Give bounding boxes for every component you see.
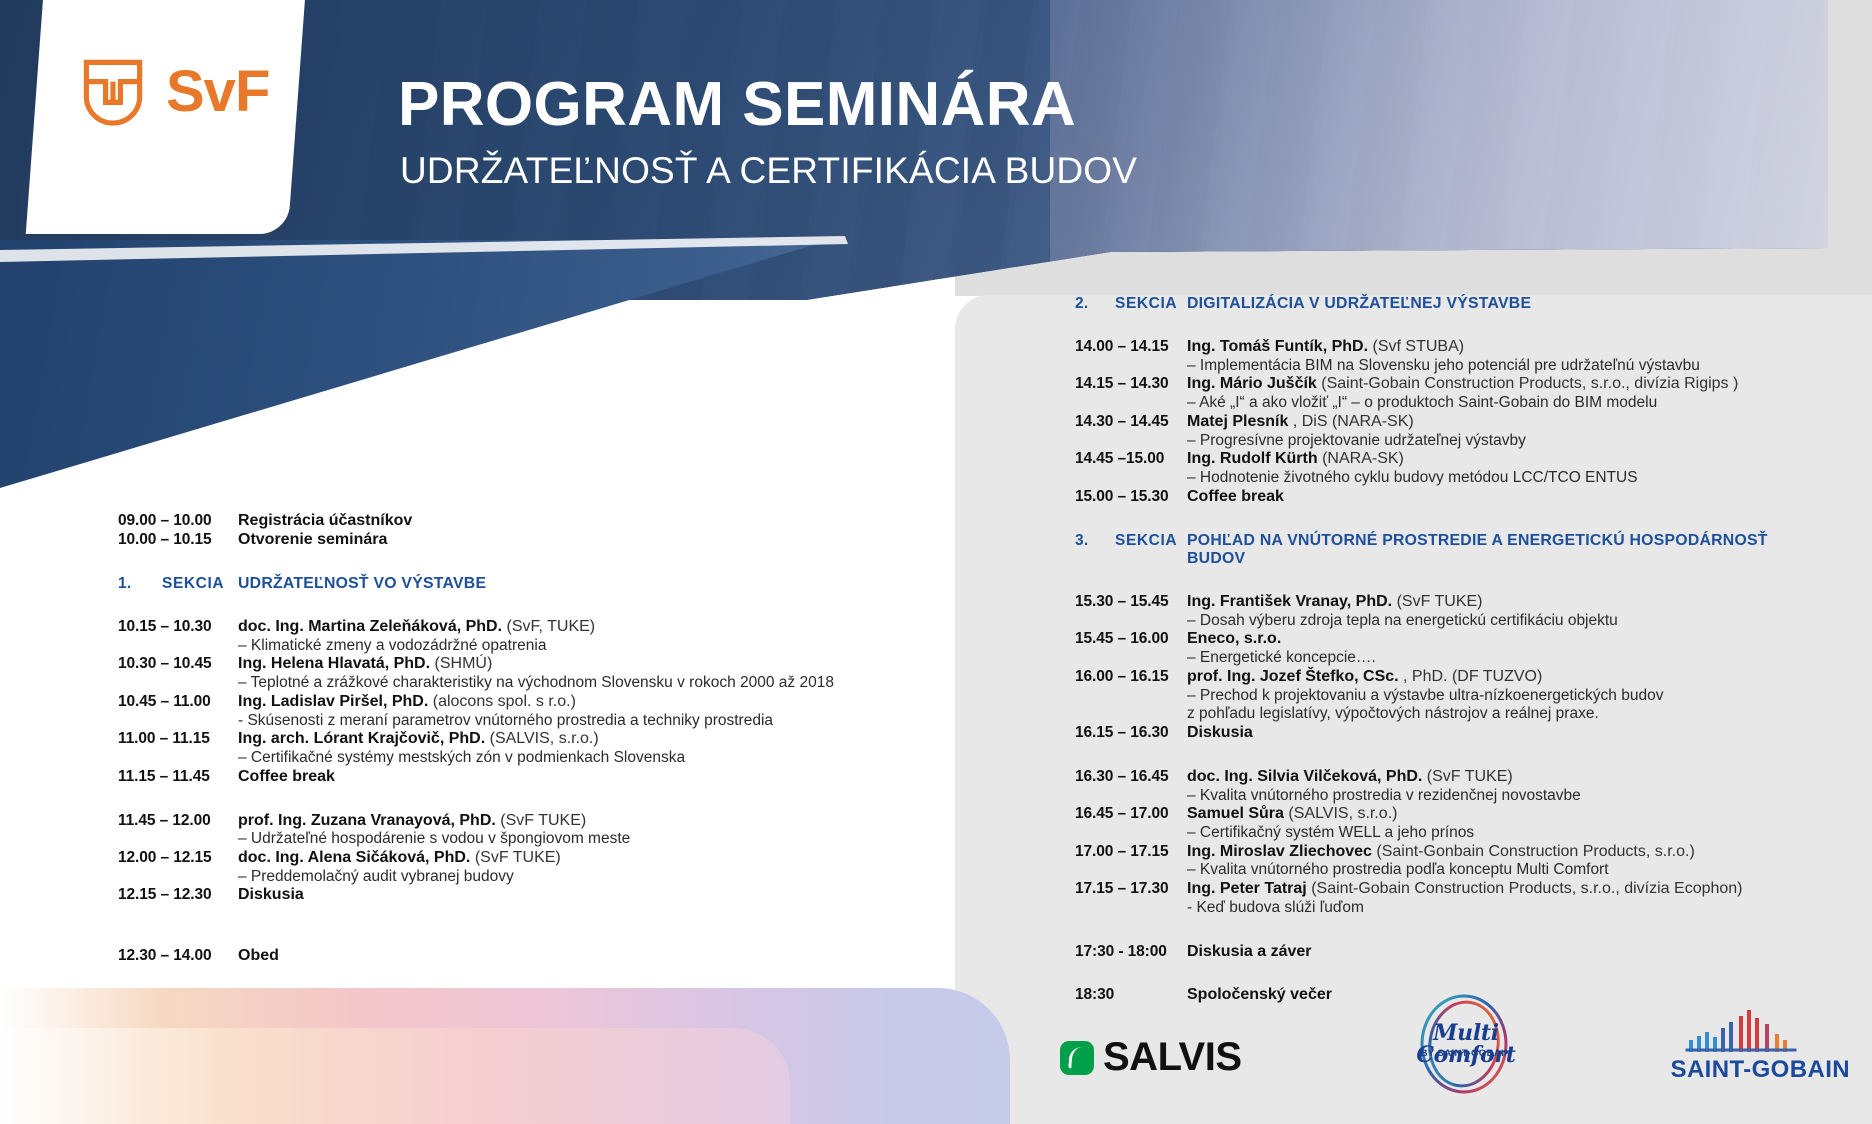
row-time: 16.15 – 16.30 <box>1075 724 1187 742</box>
speaker-affiliation: (SHMÚ) <box>435 655 493 672</box>
row-time: 17:30 - 18:00 <box>1075 943 1187 961</box>
row-speaker: Samuel Sůra (SALVIS, s.r.o.) <box>1187 805 1815 824</box>
row-topic: – Kvalita vnútorného prostredia v rezide… <box>1187 787 1815 806</box>
row-speaker: Ing. Helena Hlavatá, PhD. (SHMÚ) <box>238 655 878 674</box>
speaker-name: Eneco, s.r.o. <box>1187 630 1281 647</box>
row-topic: - Keď budova slúži ľuďom <box>1187 899 1815 918</box>
speaker-name: prof. Ing. Jozef Štefko, CSc. <box>1187 668 1399 685</box>
row-topic: – Energetické koncepcie…. <box>1187 649 1815 668</box>
row-label: Diskusia <box>238 886 878 905</box>
speaker-affiliation: (Svf STUBA) <box>1373 338 1465 355</box>
row-time: 15.00 – 15.30 <box>1075 488 1187 506</box>
sponsor-multi-comfort: Multi Comfort BY SAINT-GOBAIN <box>1376 994 1552 1094</box>
speaker-affiliation: (SvF TUKE) <box>475 849 561 866</box>
speaker-affiliation: , PhD. (DF TUZVO) <box>1403 668 1542 685</box>
schedule-row: 15.45 – 16.00 Eneco, s.r.o. <box>1075 630 1815 649</box>
speaker-affiliation: (SvF TUKE) <box>1427 768 1513 785</box>
schedule-row-discussion: 16.15 – 16.30 Diskusia <box>1075 724 1815 743</box>
schedule-row: 14.30 – 14.45 Matej Plesník , DiS (NARA-… <box>1075 413 1815 432</box>
row-topic: – Udržateľné hospodárenie s vodou v špon… <box>238 830 878 849</box>
schedule-row: 16.30 – 16.45 doc. Ing. Silvia Vilčeková… <box>1075 768 1815 787</box>
speaker-affiliation: (SvF TUKE) <box>500 812 586 829</box>
speaker-name: doc. Ing. Alena Sičáková, PhD. <box>238 849 470 866</box>
row-topic-continued: z pohľadu legislatívy, výpočtových nástr… <box>1187 705 1815 724</box>
row-time: 10.45 – 11.00 <box>118 693 238 711</box>
row-time: 14.15 – 14.30 <box>1075 375 1187 393</box>
row-label: Obed <box>238 947 878 966</box>
schedule-row: 15.30 – 15.45 Ing. František Vranay, PhD… <box>1075 593 1815 612</box>
section-header-1: 1. SEKCIA UDRŽATEĽNOSŤ VO VÝSTAVBE <box>118 575 878 593</box>
row-speaker: Matej Plesník , DiS (NARA-SK) <box>1187 413 1815 432</box>
schedule-row: 10.15 – 10.30 doc. Ing. Martina Zeleňáko… <box>118 618 878 637</box>
row-time: 11.15 – 11.45 <box>118 768 238 786</box>
speaker-name: Ing. František Vranay, PhD. <box>1187 593 1392 610</box>
speaker-affiliation: (SvF, TUKE) <box>507 618 596 635</box>
sponsor-saint-gobain: SAINT-GOBAIN <box>1671 1008 1850 1084</box>
speaker-name: prof. Ing. Zuzana Vranayová, PhD. <box>238 812 496 829</box>
schedule-row: 12.00 – 12.15 doc. Ing. Alena Sičáková, … <box>118 849 878 868</box>
multi-comfort-wordmark: Multi Comfort <box>1398 1022 1534 1066</box>
row-time: 14.30 – 14.45 <box>1075 413 1187 431</box>
row-time: 11.00 – 11.15 <box>118 730 238 748</box>
program-column-right: 2. SEKCIA DIGITALIZÁCIA V UDRŽATEĽNEJ VÝ… <box>1075 295 1815 1005</box>
saint-gobain-skyline-icon <box>1685 1008 1835 1054</box>
speaker-name: Ing. Helena Hlavatá, PhD. <box>238 655 430 672</box>
row-speaker: Ing. Mário Juščík (Saint-Gobain Construc… <box>1187 375 1815 394</box>
section-title: UDRŽATEĽNOSŤ VO VÝSTAVBE <box>238 575 486 593</box>
section-keyword: SEKCIA <box>1115 532 1187 550</box>
speaker-name: Ing. arch. Lórant Krajčovič, PhD. <box>238 730 485 747</box>
row-speaker: Ing. arch. Lórant Krajčovič, PhD. (SALVI… <box>238 730 878 749</box>
section-number: 2. <box>1075 295 1115 313</box>
row-time: 17.15 – 17.30 <box>1075 880 1187 898</box>
sponsor-logos: SALVIS Multi Comfort BY SAINT-G <box>1060 998 1850 1094</box>
speaker-name: Ing. Tomáš Funtík, PhD. <box>1187 338 1368 355</box>
row-speaker: Ing. Miroslav Zliechovec (Saint-Gonbain … <box>1187 843 1815 862</box>
schedule-row: 16.45 – 17.00 Samuel Sůra (SALVIS, s.r.o… <box>1075 805 1815 824</box>
multi-comfort-byline: BY SAINT-GOBAIN <box>1398 1048 1534 1059</box>
schedule-row: 10.45 – 11.00 Ing. Ladislav Piršel, PhD.… <box>118 693 878 712</box>
row-time: 14.00 – 14.15 <box>1075 338 1187 356</box>
schedule-row: 14.45 –15.00 Ing. Rudolf Kürth (NARA-SK) <box>1075 450 1815 469</box>
section-title: POHĽAD NA VNÚTORNÉ PROSTREDIE A ENERGETI… <box>1187 532 1815 568</box>
row-topic: – Progresívne projektovanie udržateľnej … <box>1187 432 1815 451</box>
schedule-row: 11.00 – 11.15 Ing. arch. Lórant Krajčovi… <box>118 730 878 749</box>
row-topic: – Dosah výberu zdroja tepla na energetic… <box>1187 612 1815 631</box>
row-topic: – Certifikačné systémy mestských zón v p… <box>238 749 878 768</box>
speaker-affiliation: (SALVIS, s.r.o.) <box>1288 805 1397 822</box>
section-keyword: SEKCIA <box>1115 295 1187 313</box>
svf-logo: SvF <box>76 54 286 130</box>
row-speaker: prof. Ing. Jozef Štefko, CSc. , PhD. (DF… <box>1187 668 1815 687</box>
speaker-affiliation: , DiS (NARA-SK) <box>1293 413 1414 430</box>
schedule-row: 14.00 – 14.15 Ing. Tomáš Funtík, PhD. (S… <box>1075 338 1815 357</box>
row-speaker: doc. Ing. Silvia Vilčeková, PhD. (SvF TU… <box>1187 768 1815 787</box>
schedule-row-coffee: 15.00 – 15.30 Coffee break <box>1075 488 1815 507</box>
schedule-row: 09.00 – 10.00 Registrácia účastníkov <box>118 512 878 531</box>
row-topic: – Hodnotenie životného cyklu budovy metó… <box>1187 469 1815 488</box>
speaker-name: Ing. Rudolf Kürth <box>1187 450 1318 467</box>
row-label: Otvorenie seminára <box>238 531 878 550</box>
salvis-wordmark: SALVIS <box>1103 1035 1242 1080</box>
speaker-name: doc. Ing. Silvia Vilčeková, PhD. <box>1187 768 1422 785</box>
row-time: 15.30 – 15.45 <box>1075 593 1187 611</box>
row-topic: – Teplotné a zrážkové charakteristiky na… <box>238 674 878 693</box>
row-speaker: prof. Ing. Zuzana Vranayová, PhD. (SvF T… <box>238 812 878 831</box>
page-subtitle: UDRŽATEĽNOSŤ A CERTIFIKÁCIA BUDOV <box>400 150 1137 192</box>
schedule-row: 17.15 – 17.30 Ing. Peter Tatraj (Saint-G… <box>1075 880 1815 899</box>
row-label: Diskusia <box>1187 724 1815 743</box>
row-topic: – Preddemolačný audit vybranej budovy <box>238 868 878 887</box>
row-topic: – Aké „I“ a ako vložiť „I“ – o produktoc… <box>1187 394 1815 413</box>
schedule-row: 14.15 – 14.30 Ing. Mário Juščík (Saint-G… <box>1075 375 1815 394</box>
row-speaker: Eneco, s.r.o. <box>1187 630 1815 649</box>
speaker-affiliation: (NARA-SK) <box>1322 450 1404 467</box>
svf-shield-icon <box>76 55 150 129</box>
row-time: 10.15 – 10.30 <box>118 618 238 636</box>
schedule-row: 10.30 – 10.45 Ing. Helena Hlavatá, PhD. … <box>118 655 878 674</box>
schedule-row-coffee: 11.15 – 11.45 Coffee break <box>118 768 878 787</box>
saint-gobain-wordmark: SAINT-GOBAIN <box>1671 1056 1850 1084</box>
schedule-row-closing: 17:30 - 18:00 Diskusia a záver <box>1075 943 1815 962</box>
row-time: 12.30 – 14.00 <box>118 947 238 965</box>
bottom-gradient-band-inner <box>0 1028 790 1124</box>
schedule-row: 10.00 – 10.15 Otvorenie seminára <box>118 531 878 550</box>
speaker-name: Ing. Peter Tatraj <box>1187 880 1307 897</box>
row-time: 15.45 – 16.00 <box>1075 630 1187 648</box>
section-number: 3. <box>1075 532 1115 550</box>
row-speaker: doc. Ing. Martina Zeleňáková, PhD. (SvF,… <box>238 618 878 637</box>
schedule-row-discussion: 12.15 – 12.30 Diskusia <box>118 886 878 905</box>
row-time: 16.00 – 16.15 <box>1075 668 1187 686</box>
row-speaker: Ing. Peter Tatraj (Saint-Gobain Construc… <box>1187 880 1815 899</box>
speaker-name: Ing. Miroslav Zliechovec <box>1187 843 1372 860</box>
speaker-name: doc. Ing. Martina Zeleňáková, PhD. <box>238 618 502 635</box>
row-time: 11.45 – 12.00 <box>118 812 238 830</box>
row-time: 17.00 – 17.15 <box>1075 843 1187 861</box>
row-time: 14.45 –15.00 <box>1075 450 1187 468</box>
speaker-affiliation: (SvF TUKE) <box>1397 593 1483 610</box>
row-label: Registrácia účastníkov <box>238 512 878 531</box>
section-keyword: SEKCIA <box>162 575 238 593</box>
schedule-row: 11.45 – 12.00 prof. Ing. Zuzana Vranayov… <box>118 812 878 831</box>
salvis-leaf-icon <box>1060 1041 1094 1075</box>
row-label: Coffee break <box>238 768 878 787</box>
row-topic: – Klimatické zmeny a vodozádržné opatren… <box>238 637 878 656</box>
section-title: DIGITALIZÁCIA V UDRŽATEĽNEJ VÝSTAVBE <box>1187 295 1531 313</box>
row-label: Coffee break <box>1187 488 1815 507</box>
row-speaker: doc. Ing. Alena Sičáková, PhD. (SvF TUKE… <box>238 849 878 868</box>
section-number: 1. <box>118 575 162 593</box>
sponsor-salvis: SALVIS <box>1060 1035 1242 1080</box>
row-label: Diskusia a záver <box>1187 943 1815 962</box>
row-topic: - Skúsenosti z meraní parametrov vnútorn… <box>238 712 878 731</box>
page-title: PROGRAM SEMINÁRA <box>398 72 1076 137</box>
row-time: 10.00 – 10.15 <box>118 531 238 549</box>
program-column-left: 09.00 – 10.00 Registrácia účastníkov 10.… <box>118 512 878 966</box>
speaker-affiliation: (Saint-Gobain Construction Products, s.r… <box>1311 880 1742 897</box>
section-header-2: 2. SEKCIA DIGITALIZÁCIA V UDRŽATEĽNEJ VÝ… <box>1075 295 1815 313</box>
row-topic: – Kvalita vnútorného prostredia podľa ko… <box>1187 861 1815 880</box>
row-topic: – Certifikačný systém WELL a jeho prínos <box>1187 824 1815 843</box>
speaker-name: Ing. Mário Juščík <box>1187 375 1317 392</box>
speaker-name: Samuel Sůra <box>1187 805 1284 822</box>
speaker-affiliation: (Saint-Gonbain Construction Products, s.… <box>1376 843 1694 860</box>
speaker-affiliation: (alocons spol. s r.o.) <box>433 693 576 710</box>
row-speaker: Ing. Ladislav Piršel, PhD. (alocons spol… <box>238 693 878 712</box>
schedule-row-lunch: 12.30 – 14.00 Obed <box>118 947 878 966</box>
schedule-row: 16.00 – 16.15 prof. Ing. Jozef Štefko, C… <box>1075 668 1815 687</box>
svf-logo-text: SvF <box>166 63 269 121</box>
row-time: 12.15 – 12.30 <box>118 886 238 904</box>
row-time: 09.00 – 10.00 <box>118 512 238 530</box>
section-header-3: 3. SEKCIA POHĽAD NA VNÚTORNÉ PROSTREDIE … <box>1075 532 1815 568</box>
speaker-affiliation: (SALVIS, s.r.o.) <box>490 730 599 747</box>
speaker-name: Ing. Ladislav Piršel, PhD. <box>238 693 428 710</box>
row-speaker: Ing. Tomáš Funtík, PhD. (Svf STUBA) <box>1187 338 1815 357</box>
row-speaker: Ing. František Vranay, PhD. (SvF TUKE) <box>1187 593 1815 612</box>
speaker-name: Matej Plesník <box>1187 413 1288 430</box>
row-topic: – Implementácia BIM na Slovensku jeho po… <box>1187 357 1815 376</box>
row-topic: – Prechod k projektovaniu a výstavbe ult… <box>1187 687 1815 706</box>
schedule-row: 17.00 – 17.15 Ing. Miroslav Zliechovec (… <box>1075 843 1815 862</box>
row-time: 10.30 – 10.45 <box>118 655 238 673</box>
row-time: 16.45 – 17.00 <box>1075 805 1187 823</box>
seminar-program-poster: SvF PROGRAM SEMINÁRA UDRŽATEĽNOSŤ A CERT… <box>0 0 1872 1124</box>
row-time: 12.00 – 12.15 <box>118 849 238 867</box>
row-speaker: Ing. Rudolf Kürth (NARA-SK) <box>1187 450 1815 469</box>
speaker-affiliation: (Saint-Gobain Construction Products, s.r… <box>1321 375 1738 392</box>
row-time: 16.30 – 16.45 <box>1075 768 1187 786</box>
